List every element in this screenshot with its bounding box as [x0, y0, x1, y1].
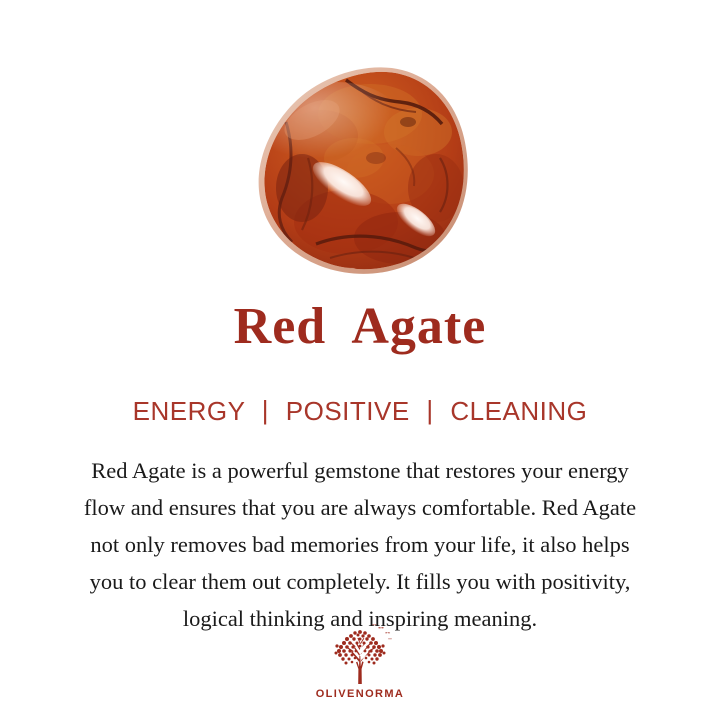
description-line: not only removes bad memories from your … — [14, 526, 706, 563]
description-paragraph: Red Agate is a powerful gemstone that re… — [14, 452, 706, 637]
keyword-positive: POSITIVE — [286, 396, 410, 426]
keyword-strip: ENERGY | POSITIVE | CLEANING — [0, 396, 720, 427]
tree-icon — [324, 622, 396, 686]
keyword-cleaning: CLEANING — [450, 396, 587, 426]
description-line: you to clear them out completely. It fil… — [14, 563, 706, 600]
product-info-card: Red Agate ENERGY | POSITIVE | CLEANING R… — [0, 0, 720, 720]
description-line: flow and ensures that you are always com… — [14, 489, 706, 526]
keyword-separator-2: | — [417, 395, 442, 426]
keyword-separator-1: | — [253, 395, 278, 426]
gemstone-hero-image — [0, 0, 720, 282]
page-title: Red Agate — [0, 300, 720, 355]
description-line: Red Agate is a powerful gemstone that re… — [14, 452, 706, 489]
brand-name: OLIVENORMA — [0, 688, 720, 700]
brand-logo: OLIVENORMA — [0, 622, 720, 700]
keyword-energy: ENERGY — [133, 396, 245, 426]
red-agate-stone-illustration — [250, 62, 475, 277]
